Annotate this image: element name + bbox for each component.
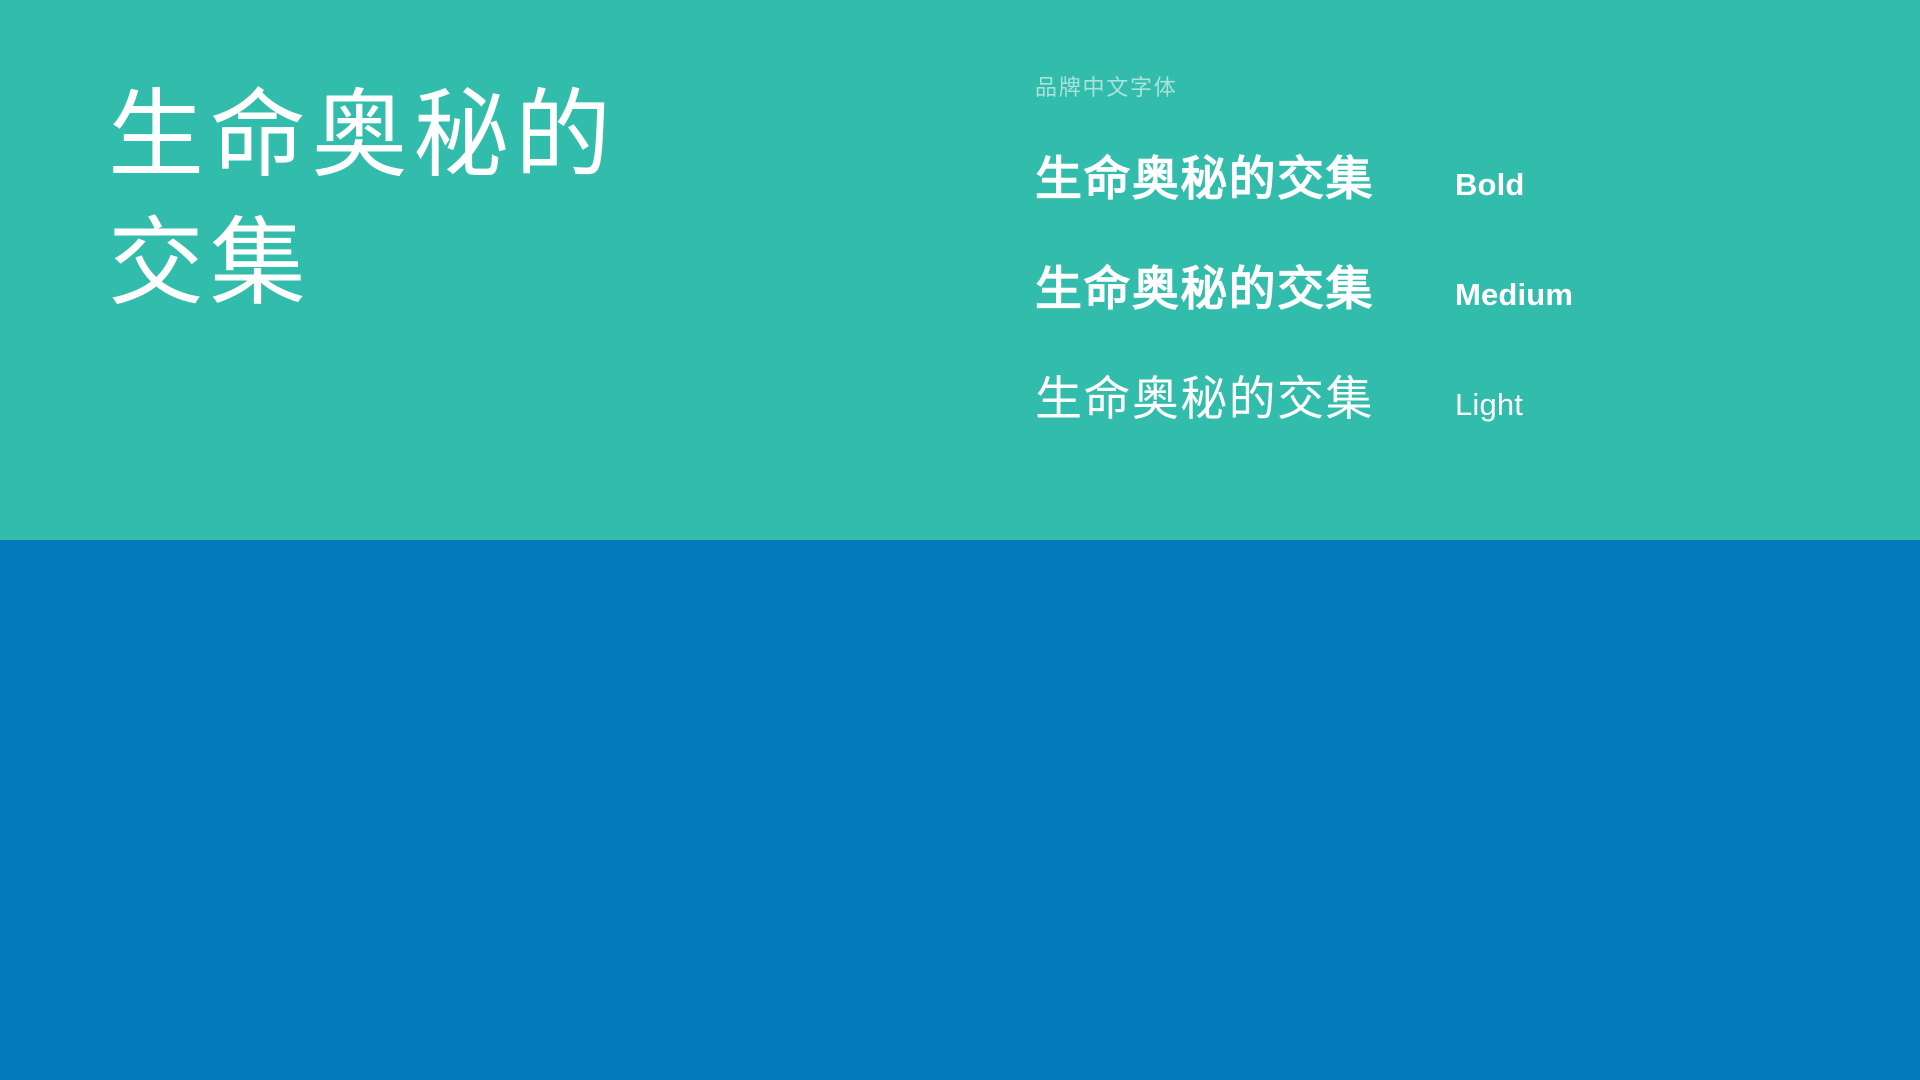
chinese-specimen-row-medium: 生命奥秘的交集Medium: [1035, 250, 1715, 360]
chinese-specimen-row-bold: 生命奥秘的交集Bold: [1035, 140, 1715, 250]
chinese-display-line-1: 生命奥秘的: [108, 72, 617, 200]
chinese-specimen-weight-label: Medium: [1455, 277, 1715, 313]
chinese-specimen-sample: 生命奥秘的交集: [1035, 360, 1455, 429]
chinese-weight-specimen-list: 生命奥秘的交集Bold 生命奥秘的交集Medium 生命奥秘的交集Light: [1035, 140, 1715, 470]
chinese-specimen-weight-label: Bold: [1455, 167, 1715, 203]
chinese-specimen-row-light: 生命奥秘的交集Light: [1035, 360, 1715, 470]
chinese-font-panel: 生命奥秘的 交集 品牌中文字体 生命奥秘的交集Bold 生命奥秘的交集Mediu…: [0, 0, 1920, 540]
typography-specimen-board: 生命奥秘的 交集 品牌中文字体 生命奥秘的交集Bold 生命奥秘的交集Mediu…: [0, 0, 1920, 1080]
chinese-display-line-2: 交集: [108, 200, 617, 328]
english-font-panel: Brand English Font Mysteries of lifeBold…: [0, 540, 1920, 1080]
chinese-specimen-sample: 生命奥秘的交集: [1035, 140, 1455, 209]
chinese-display-headline: 生命奥秘的 交集: [108, 72, 617, 328]
chinese-specimen-sample: 生命奥秘的交集: [1035, 250, 1455, 319]
chinese-section-label: 品牌中文字体: [1035, 70, 1178, 102]
chinese-specimen-weight-label: Light: [1455, 387, 1715, 423]
